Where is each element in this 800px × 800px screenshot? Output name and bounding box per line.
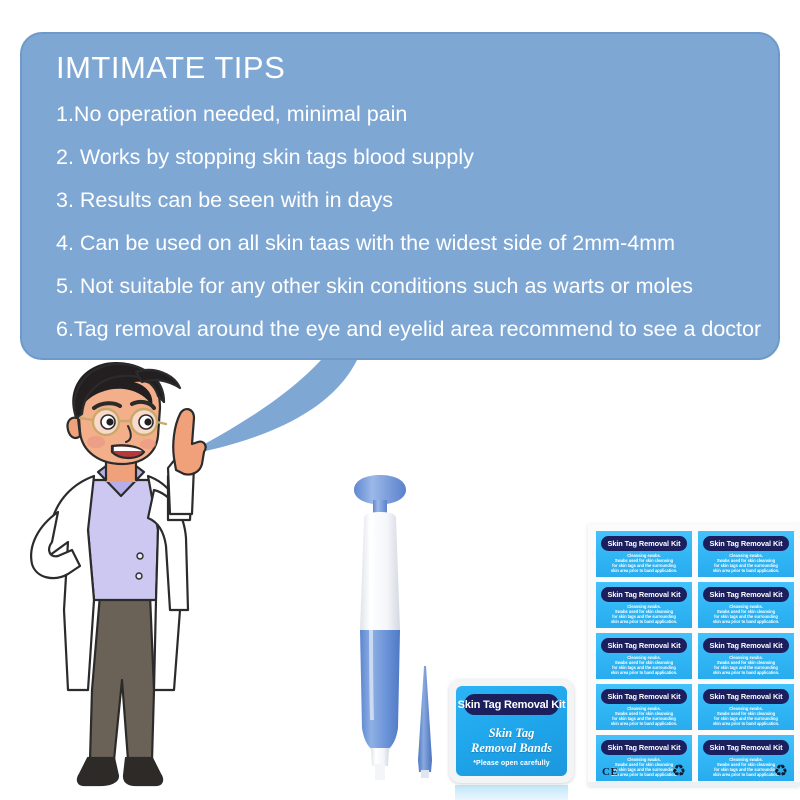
ce-mark-icon xyxy=(704,766,707,778)
sachet-item: Skin Tag Removal Kit Cleansing swabs. Sw… xyxy=(698,684,794,730)
tips-speech-bubble: IMTIMATE TIPS 1.No operation needed, min… xyxy=(20,32,780,360)
box-subtitle-line-1: Skin Tag xyxy=(456,726,567,741)
sachet-item: Skin Tag Removal Kit Cleansing swabs. Sw… xyxy=(698,582,794,628)
sachet-item: Skin Tag Removal Kit Cleansing swabs. Sw… xyxy=(596,531,692,577)
sheet-reflection xyxy=(588,782,800,786)
tip-item-6: 6.Tag removal around the eye and eyelid … xyxy=(56,317,770,341)
product-infographic: IMTIMATE TIPS 1.No operation needed, min… xyxy=(0,0,800,800)
sachet-item: Skin Tag Removal Kit Cleansing swabs. Sw… xyxy=(698,633,794,679)
tip-item-1: 1.No operation needed, minimal pain xyxy=(56,102,770,126)
tip-item-2: 2. Works by stopping skin tags blood sup… xyxy=(56,145,770,169)
sachet-item: Skin Tag Removal Kit Cleansing swabs. Sw… xyxy=(698,735,794,781)
cleansing-swab-sachet-sheet: Skin Tag Removal Kit Cleansing swabs. Sw… xyxy=(588,524,800,786)
fine-print-line-4: skin area prior to band application. xyxy=(600,670,688,675)
fine-print-line-4: skin area prior to band application. xyxy=(702,568,790,573)
doctor-illustration xyxy=(2,360,232,800)
sachet-brand-badge: Skin Tag Removal Kit xyxy=(703,740,789,755)
sachet-compliance-marks: CE ♻ xyxy=(602,765,686,778)
sachet-brand-badge: Skin Tag Removal Kit xyxy=(703,536,789,551)
sachet-fine-print: Cleansing swabs. Swabs used for skin cle… xyxy=(600,655,688,675)
sachet-grid: Skin Tag Removal Kit Cleansing swabs. Sw… xyxy=(596,531,794,781)
tip-item-3: 3. Results can be seen with in days xyxy=(56,188,770,212)
sachet-brand-badge: Skin Tag Removal Kit xyxy=(703,587,789,602)
fine-print-line-4: skin area prior to band application. xyxy=(600,721,688,726)
sachet-fine-print: Cleansing swabs. Swabs used for skin cle… xyxy=(702,655,790,675)
sachet-fine-print: Cleansing swabs. Swabs used for skin cle… xyxy=(702,604,790,624)
sachet-fine-print: Cleansing swabs. Swabs used for skin cle… xyxy=(702,553,790,573)
sachet-item: Skin Tag Removal Kit Cleansing swabs. Sw… xyxy=(596,633,692,679)
sachet-fine-print: Cleansing swabs. Swabs used for skin cle… xyxy=(600,604,688,624)
fine-print-line-4: skin area prior to band application. xyxy=(600,568,688,573)
fine-print-line-4: skin area prior to band application. xyxy=(702,721,790,726)
cone-applicator-tip xyxy=(400,660,450,790)
tip-item-4: 4. Can be used on all skin taas with the… xyxy=(56,231,770,255)
sachet-item: Skin Tag Removal Kit Cleansing swabs. Sw… xyxy=(596,684,692,730)
box-open-note: *Please open carefully xyxy=(456,760,567,767)
sachet-fine-print: Cleansing swabs. Swabs used for skin cle… xyxy=(702,706,790,726)
sachet-brand-badge: Skin Tag Removal Kit xyxy=(703,689,789,704)
sachet-brand-badge: Skin Tag Removal Kit xyxy=(601,587,687,602)
fine-print-line-4: skin area prior to band application. xyxy=(702,670,790,675)
box-subtitle: Skin Tag Removal Bands xyxy=(456,726,567,756)
ce-mark-icon: CE xyxy=(602,766,618,778)
sachet-fine-print: Cleansing swabs. Swabs used for skin cle… xyxy=(600,553,688,573)
recycle-icon: ♻ xyxy=(774,764,788,780)
page-title: IMTIMATE TIPS xyxy=(56,50,285,86)
sachet-item: Skin Tag Removal Kit Cleansing swabs. Sw… xyxy=(698,531,794,577)
skin-tag-removal-bands-box: Skin Tag Removal Kit Skin Tag Removal Ba… xyxy=(449,679,574,783)
box-subtitle-line-2: Removal Bands xyxy=(456,741,567,756)
tips-list: 1.No operation needed, minimal pain 2. W… xyxy=(56,102,770,360)
sachet-item: Skin Tag Removal Kit Cleansing swabs. Sw… xyxy=(596,735,692,781)
sachet-brand-badge: Skin Tag Removal Kit xyxy=(601,689,687,704)
box-brand-badge: Skin Tag Removal Kit xyxy=(464,694,559,715)
fine-print-line-4: skin area prior to band application. xyxy=(600,619,688,624)
sachet-fine-print: Cleansing swabs. Swabs used for skin cle… xyxy=(600,706,688,726)
fine-print-line-4: skin area prior to band application. xyxy=(702,619,790,624)
sachet-compliance-marks: ♻ xyxy=(704,765,788,778)
sachet-brand-badge: Skin Tag Removal Kit xyxy=(601,740,687,755)
sachet-brand-badge: Skin Tag Removal Kit xyxy=(703,638,789,653)
sachet-item: Skin Tag Removal Kit Cleansing swabs. Sw… xyxy=(596,582,692,628)
recycle-icon: ♻ xyxy=(672,764,686,780)
sachet-brand-badge: Skin Tag Removal Kit xyxy=(601,536,687,551)
tip-item-5: 5. Not suitable for any other skin condi… xyxy=(56,274,770,298)
sachet-brand-badge: Skin Tag Removal Kit xyxy=(601,638,687,653)
box-reflection xyxy=(455,785,568,800)
box-front-face: Skin Tag Removal Kit Skin Tag Removal Ba… xyxy=(456,686,567,776)
